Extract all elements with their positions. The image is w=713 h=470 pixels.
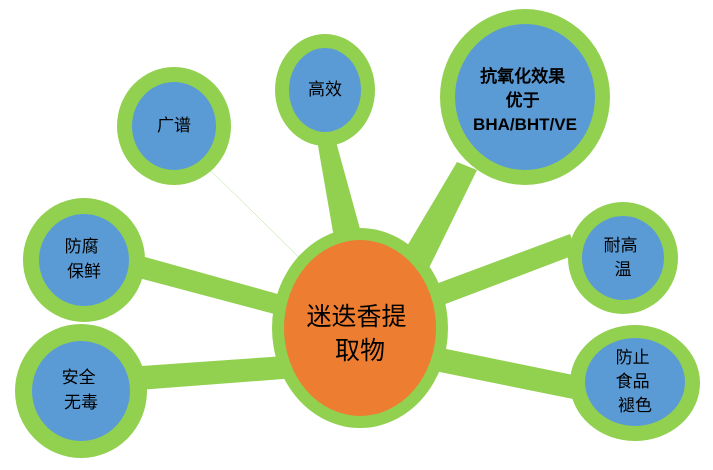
branch-node-broad-spectrum[interactable]: 广谱 bbox=[117, 67, 231, 185]
branch-node-preservation[interactable]: 防腐 保鲜 bbox=[23, 198, 145, 322]
center-node[interactable]: 迷迭香提 取物 bbox=[272, 228, 448, 428]
branch-label-high-efficiency: 高效 bbox=[308, 80, 342, 99]
branch-fill-heat-resistant bbox=[582, 216, 664, 300]
branch-node-antioxidant-superior[interactable]: 抗氧化效果 优于 BHA/BHT/VE bbox=[440, 9, 610, 185]
branch-label-prevent-food-fading: 防止 食品 褪色 bbox=[616, 348, 655, 415]
branch-fill-safe-nontoxic bbox=[32, 341, 130, 441]
radial-mind-map: 迷迭香提 取物 广谱 高效 抗氧化效果 优于 bbox=[0, 0, 713, 470]
branch-label-broad-spectrum: 广谱 bbox=[157, 116, 191, 135]
branch-node-heat-resistant[interactable]: 耐高 温 bbox=[568, 202, 678, 314]
diagram-canvas: 迷迭香提 取物 广谱 高效 抗氧化效果 优于 bbox=[0, 0, 713, 470]
branch-fill-preservation bbox=[39, 214, 129, 306]
branch-node-high-efficiency[interactable]: 高效 bbox=[275, 34, 375, 146]
connector-to-heat-resistant bbox=[425, 234, 577, 308]
branch-node-safe-nontoxic[interactable]: 安全 无毒 bbox=[15, 324, 147, 458]
branch-node-prevent-food-fading[interactable]: 防止 食品 褪色 bbox=[570, 325, 700, 441]
